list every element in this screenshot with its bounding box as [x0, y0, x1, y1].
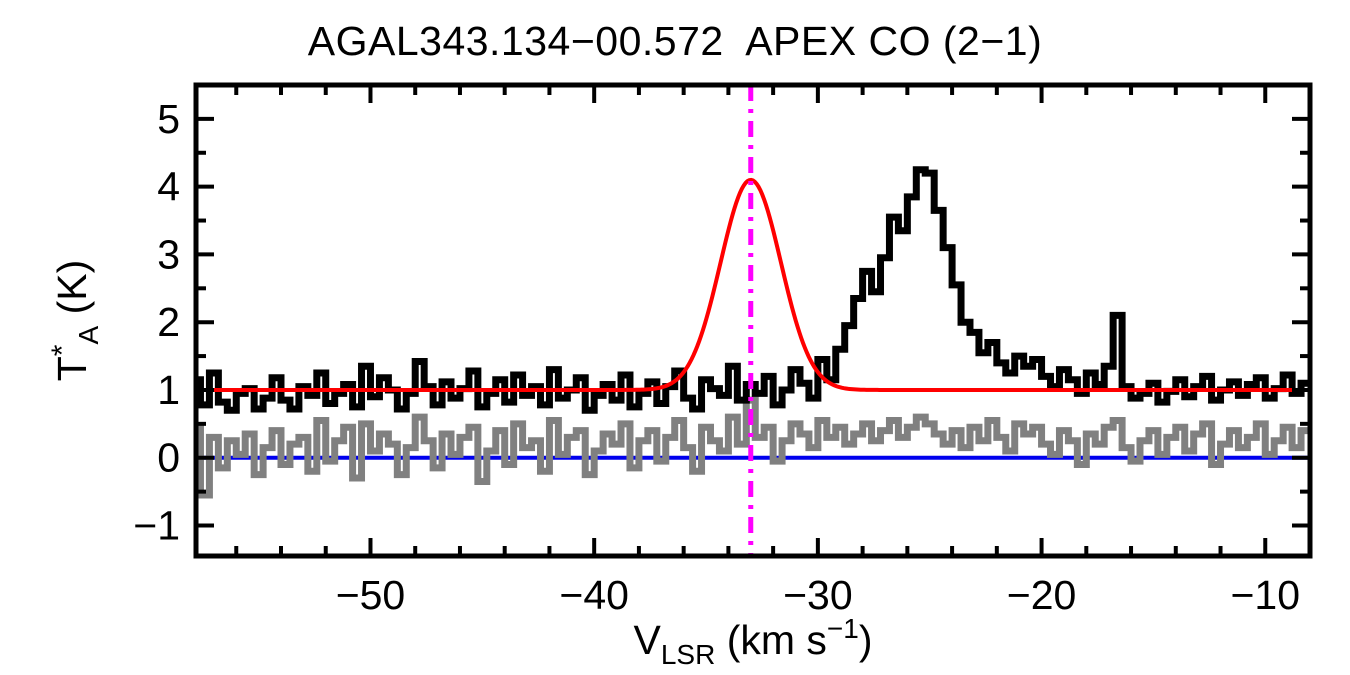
y-tick-label: 5	[157, 96, 180, 142]
y-axis-title: T*A (K)	[46, 260, 104, 381]
y-tick-label: 1	[157, 367, 180, 413]
svg-text:T*A (K): T*A (K)	[46, 260, 104, 381]
spectrum-figure: AGAL343.134−00.572 APEX CO (2−1) −50−40−…	[0, 0, 1350, 675]
x-tick-label: −40	[559, 572, 629, 618]
x-axis-title: VLSR (km s−1)	[633, 613, 872, 670]
spectrum-chart: −50−40−30−20−10−1012345VLSR (km s−1)T*A …	[0, 0, 1350, 675]
gaussian-fit-curve	[196, 180, 1310, 390]
y-tick-label: 4	[157, 164, 180, 210]
y-tick-label: 2	[157, 299, 180, 345]
x-tick-label: −30	[783, 572, 853, 618]
y-tick-label: 3	[157, 231, 180, 277]
y-tick-label: 0	[157, 435, 180, 481]
x-tick-label: −10	[1230, 572, 1300, 618]
y-tick-label: −1	[133, 503, 180, 549]
x-tick-label: −50	[336, 572, 406, 618]
x-tick-label: −20	[1007, 572, 1077, 618]
